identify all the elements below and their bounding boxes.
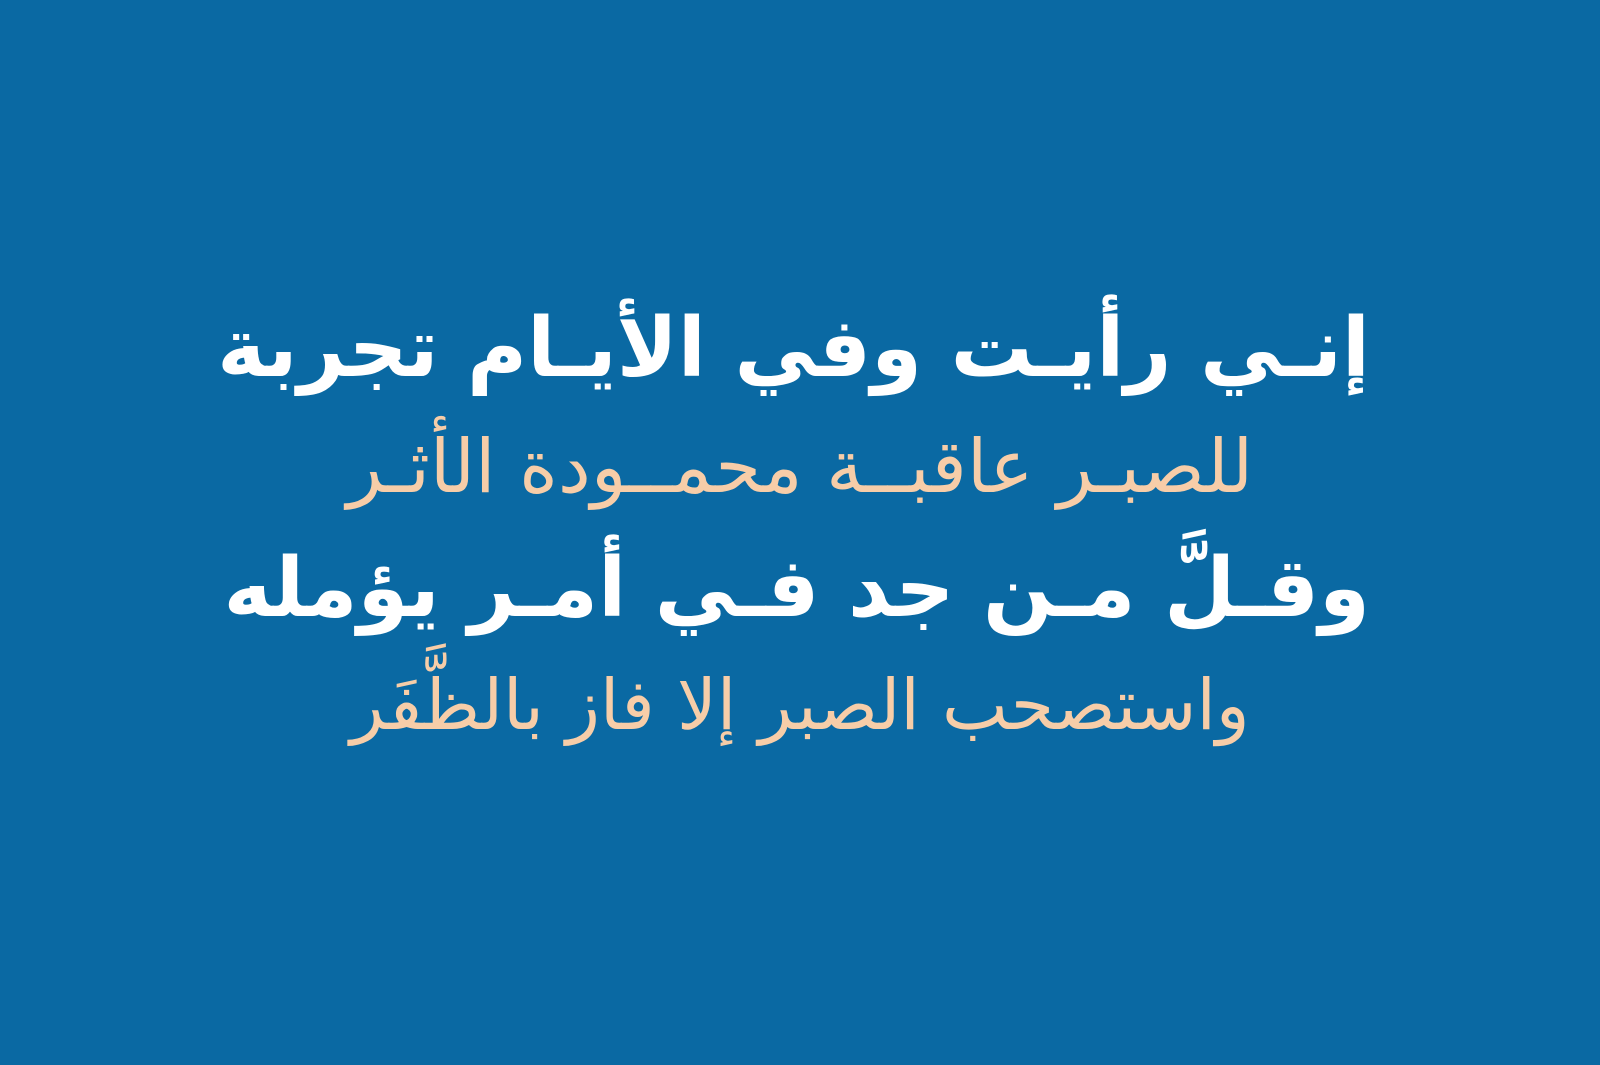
poster-canvas: إنـي رأيـت وفي الأيـام تجربة للصبـر عاقب… — [0, 0, 1600, 1065]
poem-block: إنـي رأيـت وفي الأيـام تجربة للصبـر عاقب… — [0, 308, 1600, 740]
poem-line-1: إنـي رأيـت وفي الأيـام تجربة — [230, 308, 1370, 390]
poem-line-2: للصبـر عاقبــة محمــودة الأثـر — [230, 430, 1370, 504]
poem-line-3: وقـلَّ مـن جد فـي أمـر يؤمله — [230, 548, 1370, 630]
poem-line-4: واستصحب الصبر إلا فاز بالظَّفَر — [230, 670, 1370, 740]
